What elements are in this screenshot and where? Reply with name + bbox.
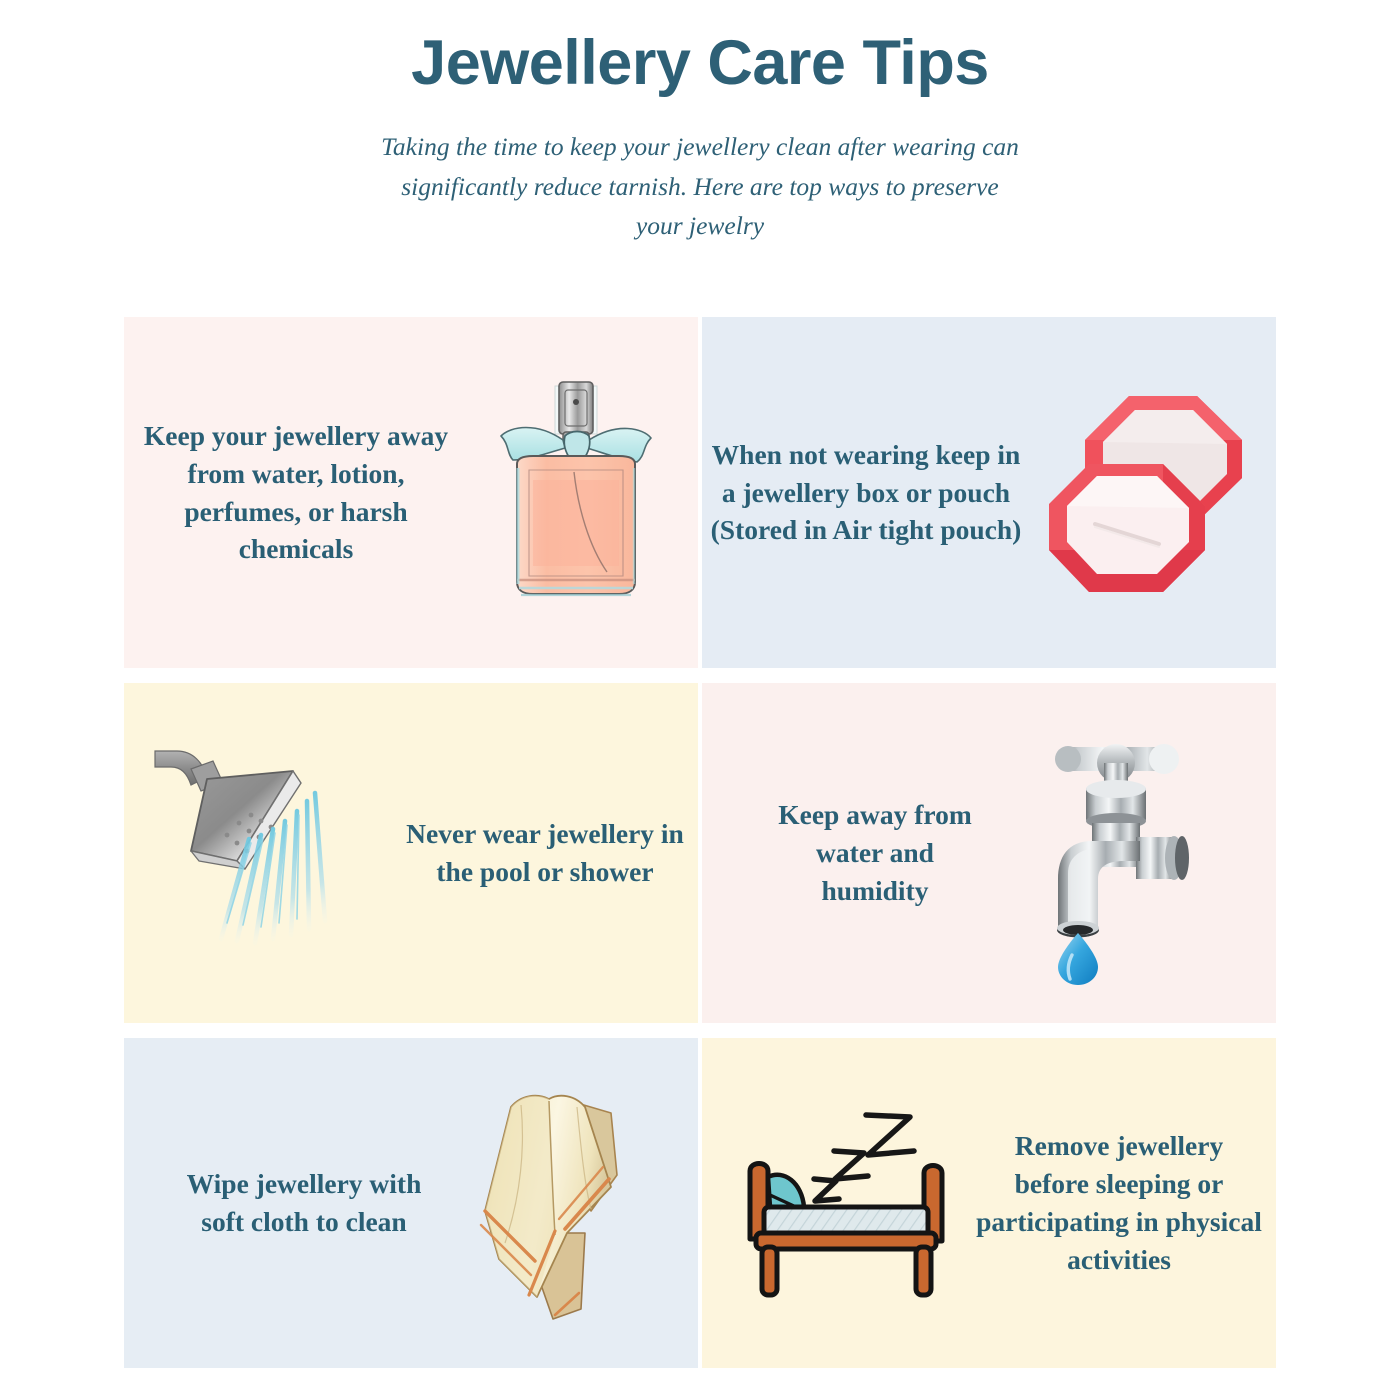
card-pool-shower[interactable]: Never wear jewellery in the pool or show… bbox=[124, 683, 698, 1023]
page-header: Jewellery Care Tips Taking the time to k… bbox=[0, 0, 1400, 246]
tips-grid: Keep your jewellery away from water, lot… bbox=[124, 317, 1276, 1368]
card-text: Remove jewellery before sleeping or part… bbox=[976, 1127, 1276, 1279]
card-sleeping-activities[interactable]: Remove jewellery before sleeping or part… bbox=[702, 1038, 1276, 1368]
infographic-page: Jewellery Care Tips Taking the time to k… bbox=[0, 0, 1400, 1400]
ring-box-icon bbox=[1037, 378, 1252, 608]
page-title: Jewellery Care Tips bbox=[0, 0, 1400, 99]
perfume-bottle-icon bbox=[477, 368, 667, 618]
card-text: Never wear jewellery in the pool or show… bbox=[398, 815, 698, 891]
card-illustration bbox=[988, 683, 1276, 1023]
card-text: Wipe jewellery with soft cloth to clean bbox=[124, 1165, 444, 1241]
card-illustration bbox=[444, 1038, 698, 1368]
cloth-icon bbox=[459, 1083, 649, 1323]
card-illustration bbox=[124, 683, 398, 1023]
card-illustration bbox=[454, 317, 698, 668]
card-water-humidity[interactable]: Keep away from water and humidity bbox=[702, 683, 1276, 1023]
card-water-lotion-perfume[interactable]: Keep your jewellery away from water, lot… bbox=[124, 317, 698, 668]
card-illustration bbox=[1022, 317, 1276, 668]
shower-head-icon bbox=[151, 743, 381, 963]
card-jewellery-box[interactable]: When not wearing keep in a jewellery box… bbox=[702, 317, 1276, 668]
faucet-icon bbox=[1024, 733, 1214, 973]
card-text: Keep away from water and humidity bbox=[702, 796, 988, 910]
card-illustration bbox=[702, 1038, 976, 1368]
card-text: Keep your jewellery away from water, lot… bbox=[124, 417, 454, 569]
page-subtitle: Taking the time to keep your jewellery c… bbox=[380, 127, 1020, 246]
bed-sleeping-icon bbox=[734, 1103, 974, 1303]
card-soft-cloth[interactable]: Wipe jewellery with soft cloth to clean bbox=[124, 1038, 698, 1368]
card-text: When not wearing keep in a jewellery box… bbox=[702, 436, 1022, 550]
